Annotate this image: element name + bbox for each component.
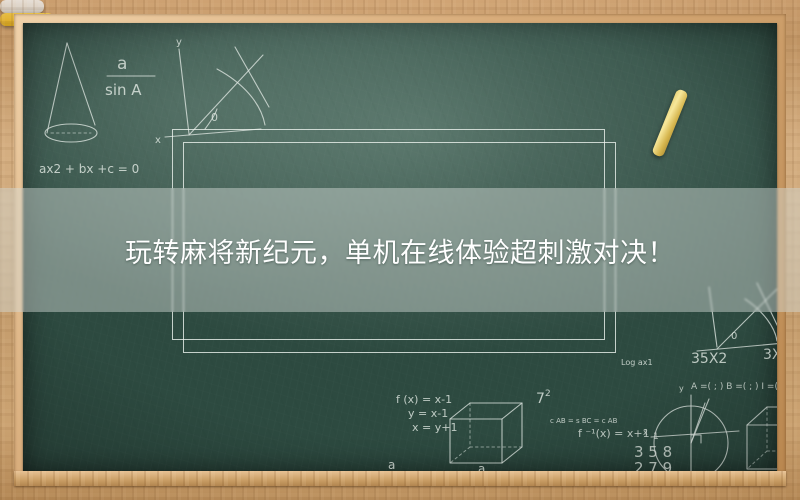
chalk-square-7: 7	[536, 391, 545, 407]
chalk-circle-axis-y: y	[679, 384, 684, 393]
ledge-wood-grain	[14, 471, 786, 486]
chalk-angle-label: 0	[211, 111, 218, 124]
wooden-frame: a sin A y x 0 ax2 + bx +c = 0	[0, 0, 800, 500]
chalk-group-right: Log ax1 35X2 3X2 A =( ; ) B =( ; ) I =( …	[613, 343, 777, 471]
chalk-fraction2-num: a	[388, 458, 395, 471]
chalk-matrix-label-2: 3X2	[763, 347, 777, 363]
page-title: 玩转麻将新纪元，单机在线体验超刺激对决！	[0, 188, 800, 312]
chalk-quadratic: ax2 + bx +c = 0	[39, 162, 139, 176]
chalk-circle-axis-x: x	[643, 428, 648, 437]
chalk-fx-line1: f (x) = x-1	[396, 393, 452, 406]
chalk-fx-line2: y = x-1	[408, 407, 448, 420]
chalk-angle-label-right: 0	[731, 331, 737, 342]
chalk-fraction-denominator: sin A	[105, 81, 142, 99]
white-chalk-icon	[0, 0, 44, 13]
chalk-log-label: Log ax1	[621, 358, 653, 367]
chalk-ledge	[14, 471, 786, 486]
chalk-fraction-numerator: a	[117, 54, 127, 74]
chalk-axis-x: x	[155, 135, 161, 146]
chalk-square-7-exp: 2	[545, 389, 551, 399]
chalk-axis-y: y	[176, 37, 182, 48]
chalk-fx-line3: x = y+1	[412, 421, 457, 434]
chalk-fraction3-num: a	[478, 462, 485, 471]
chalk-matrix-label-1: 35X2	[691, 351, 727, 367]
chalk-matrix-note: A =( ; ) B =( ; ) I =( ; )	[691, 382, 777, 392]
